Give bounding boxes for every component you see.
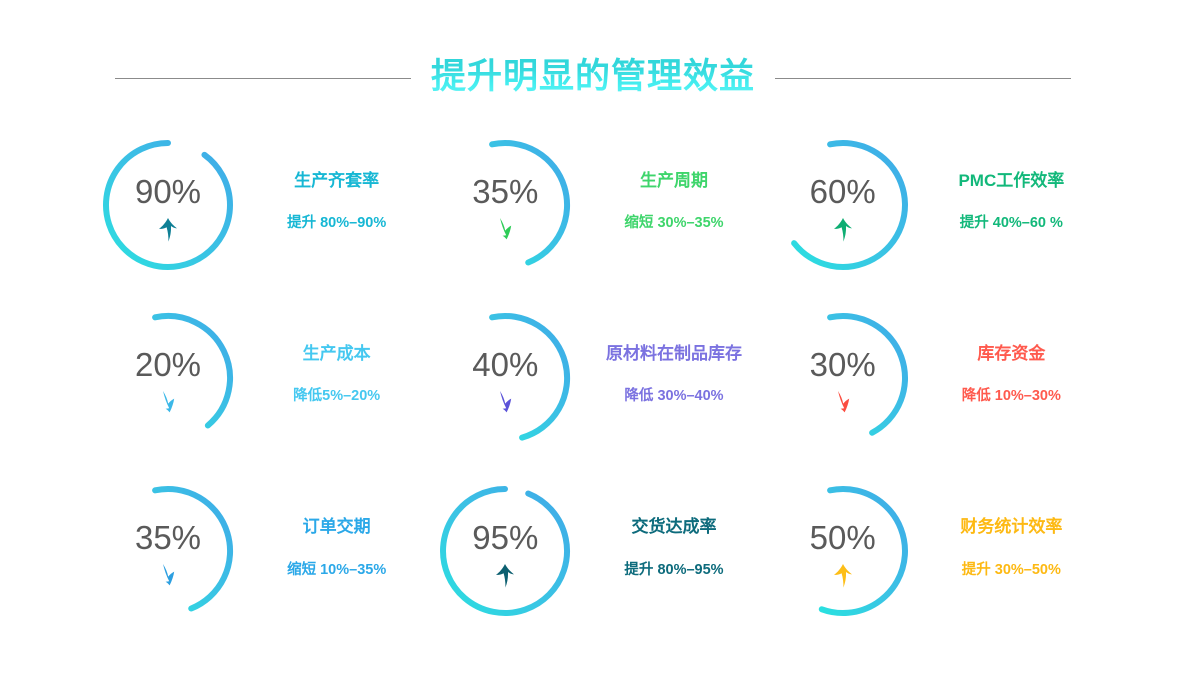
metric-title: 生产齐套率 — [244, 171, 429, 191]
metric-subtitle: 提升 80%–90% — [244, 215, 429, 232]
page-title: 提升明显的管理效益 — [429, 55, 757, 102]
gauge-value: 35% — [429, 175, 581, 208]
metric-text: 交货达成率提升 80%–95% — [581, 517, 766, 579]
gauge-value: 60% — [767, 175, 919, 208]
gauge-ring: 35% — [92, 475, 244, 627]
header-rule-left — [115, 78, 411, 79]
metric-title: 库存资金 — [919, 344, 1104, 364]
metric-card: 35%订单交期缩短 10%–35% — [92, 465, 429, 638]
metric-card: 50%财务统计效率提升 30%–50% — [767, 465, 1104, 638]
metric-subtitle: 降低5%–20% — [244, 388, 429, 405]
metric-title: 生产成本 — [244, 344, 429, 364]
trend-arrow-down-icon — [92, 561, 244, 591]
metric-text: 原材料在制品库存降低 30%–40% — [581, 344, 766, 406]
metric-subtitle: 提升 40%–60 % — [919, 215, 1104, 232]
metric-card: 35%生产周期缩短 30%–35% — [429, 118, 766, 291]
gauge-ring: 20% — [92, 302, 244, 454]
gauge-ring: 95% — [429, 475, 581, 627]
trend-arrow-down-icon — [92, 388, 244, 418]
metrics-grid: 90%生产齐套率提升 80%–90%35%生产周期缩短 30%–35%60%PM… — [92, 118, 1104, 638]
gauge-value: 90% — [92, 175, 244, 208]
trend-arrow-up-icon — [767, 561, 919, 591]
metric-text: PMC工作效率提升 40%–60 % — [919, 171, 1104, 233]
metric-subtitle: 提升 30%–50% — [919, 562, 1104, 579]
metric-title: 订单交期 — [244, 517, 429, 537]
metric-subtitle: 降低 10%–30% — [919, 388, 1104, 405]
gauge-value: 95% — [429, 521, 581, 554]
metric-subtitle: 降低 30%–40% — [581, 388, 766, 405]
trend-arrow-up-icon — [429, 561, 581, 591]
gauge-ring: 50% — [767, 475, 919, 627]
slide-root: 提升明显的管理效益 90%生产齐套率提升 80%–90%35%生产周期缩短 30… — [0, 0, 1186, 684]
metric-title: 交货达成率 — [581, 517, 766, 537]
gauge-ring: 60% — [767, 129, 919, 281]
metric-text: 财务统计效率提升 30%–50% — [919, 517, 1104, 579]
metric-text: 生产周期缩短 30%–35% — [581, 171, 766, 233]
metric-title: PMC工作效率 — [919, 171, 1104, 191]
metric-card: 60%PMC工作效率提升 40%–60 % — [767, 118, 1104, 291]
metric-title: 生产周期 — [581, 171, 766, 191]
metric-card: 30%库存资金降低 10%–30% — [767, 291, 1104, 464]
metric-title: 财务统计效率 — [919, 517, 1104, 537]
metric-text: 生产成本降低5%–20% — [244, 344, 429, 406]
header-rule-right — [775, 78, 1071, 79]
metric-card: 95%交货达成率提升 80%–95% — [429, 465, 766, 638]
gauge-ring: 35% — [429, 129, 581, 281]
trend-arrow-down-icon — [429, 388, 581, 418]
gauge-ring: 40% — [429, 302, 581, 454]
metric-text: 库存资金降低 10%–30% — [919, 344, 1104, 406]
metric-text: 订单交期缩短 10%–35% — [244, 517, 429, 579]
metric-card: 90%生产齐套率提升 80%–90% — [92, 118, 429, 291]
gauge-ring: 30% — [767, 302, 919, 454]
gauge-value: 35% — [92, 521, 244, 554]
gauge-value: 30% — [767, 348, 919, 381]
metric-subtitle: 提升 80%–95% — [581, 562, 766, 579]
slide-header: 提升明显的管理效益 — [0, 50, 1186, 106]
metric-card: 20%生产成本降低5%–20% — [92, 291, 429, 464]
metric-title: 原材料在制品库存 — [581, 344, 766, 364]
trend-arrow-down-icon — [429, 215, 581, 245]
metric-card: 40%原材料在制品库存降低 30%–40% — [429, 291, 766, 464]
metric-text: 生产齐套率提升 80%–90% — [244, 171, 429, 233]
trend-arrow-down-icon — [767, 388, 919, 418]
gauge-value: 40% — [429, 348, 581, 381]
gauge-value: 20% — [92, 348, 244, 381]
metric-subtitle: 缩短 30%–35% — [581, 215, 766, 232]
metric-subtitle: 缩短 10%–35% — [244, 562, 429, 579]
trend-arrow-up-icon — [767, 215, 919, 245]
gauge-ring: 90% — [92, 129, 244, 281]
trend-arrow-up-icon — [92, 215, 244, 245]
gauge-value: 50% — [767, 521, 919, 554]
